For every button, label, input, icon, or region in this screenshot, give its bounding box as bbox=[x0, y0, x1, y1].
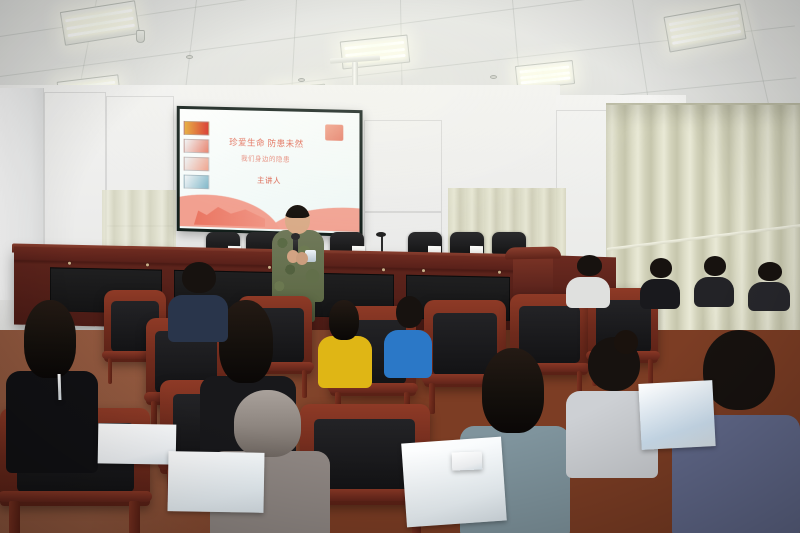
slide-thumbnail bbox=[184, 175, 210, 190]
presenter-uniform bbox=[272, 230, 324, 302]
person-torso bbox=[318, 336, 372, 388]
person-clapping-left[interactable] bbox=[6, 300, 98, 470]
person-head bbox=[650, 258, 672, 278]
chair-leg bbox=[108, 358, 112, 384]
person-torso bbox=[566, 277, 610, 308]
slide-logo-icon bbox=[325, 124, 343, 141]
person-black-coat-1[interactable] bbox=[640, 258, 680, 308]
slide-title-line-2: 我们身边的隐患 bbox=[241, 152, 290, 163]
chair-leg bbox=[9, 501, 20, 533]
person-hair-bun bbox=[614, 330, 638, 354]
lectern-top bbox=[505, 247, 561, 260]
dais-stud bbox=[382, 268, 385, 271]
person-yellow-jacket[interactable] bbox=[318, 300, 372, 386]
person-head bbox=[758, 262, 782, 281]
person-head bbox=[396, 296, 423, 328]
lectern-body bbox=[513, 256, 553, 299]
person-blue-jacket[interactable] bbox=[384, 296, 432, 376]
person-black-coat-2[interactable] bbox=[694, 256, 734, 306]
person-hair bbox=[482, 348, 544, 433]
person-torso bbox=[748, 282, 790, 311]
smartphone bbox=[452, 451, 483, 470]
presenter-head bbox=[285, 205, 310, 234]
handout-paper-mid bbox=[167, 451, 264, 513]
person-head bbox=[704, 256, 726, 276]
slide-thumbnail bbox=[184, 157, 210, 172]
person-torso bbox=[6, 371, 98, 473]
projection-screen: 珍爱生命 防患未然 我们身边的隐患 主讲人 bbox=[177, 106, 363, 237]
conference-room-photo: 珍爱生命 防患未然 我们身边的隐患 主讲人 bbox=[0, 0, 800, 533]
person-hair bbox=[329, 300, 359, 340]
projected-slide: 珍爱生命 防患未然 我们身边的隐患 主讲人 bbox=[180, 109, 360, 234]
dais-stud bbox=[268, 266, 271, 269]
dais-stud bbox=[146, 263, 149, 266]
smoke-detector-3 bbox=[490, 75, 497, 79]
person-head bbox=[577, 255, 602, 276]
person-head bbox=[182, 262, 216, 293]
microphone-head-icon bbox=[376, 232, 386, 237]
microphone-capsule-icon bbox=[291, 233, 300, 240]
dais-stud bbox=[498, 271, 501, 274]
person-navy-coat[interactable] bbox=[168, 262, 228, 340]
dais-stud bbox=[422, 269, 425, 272]
person-torso bbox=[640, 279, 680, 309]
person-hair bbox=[234, 390, 301, 457]
presenter-hair bbox=[285, 205, 310, 218]
smoke-detector-1 bbox=[186, 55, 193, 59]
person-back-far-right[interactable] bbox=[748, 262, 790, 310]
handout-flyer bbox=[638, 380, 715, 450]
person-torso bbox=[694, 277, 734, 307]
presenter-right-hand bbox=[296, 252, 308, 265]
ceiling-speaker-1 bbox=[136, 30, 145, 43]
person-torso bbox=[168, 295, 228, 342]
slide-title-line-1: 珍爱生命 防患未然 bbox=[229, 136, 304, 150]
smoke-detector-2 bbox=[298, 78, 305, 82]
person-torso bbox=[384, 330, 432, 378]
handout-paper-left bbox=[98, 423, 177, 464]
dais-stud bbox=[68, 262, 71, 265]
slide-thumbnail bbox=[184, 121, 210, 136]
handout-paper-right bbox=[401, 437, 507, 528]
person-white-tshirt[interactable] bbox=[566, 255, 610, 307]
slide-presenter-line: 主讲人 bbox=[257, 175, 281, 187]
wall-panel bbox=[364, 120, 442, 212]
slide-thumbnail bbox=[184, 139, 210, 154]
person-hair bbox=[24, 300, 76, 378]
chair-leg bbox=[129, 501, 140, 533]
person-head bbox=[703, 330, 775, 410]
